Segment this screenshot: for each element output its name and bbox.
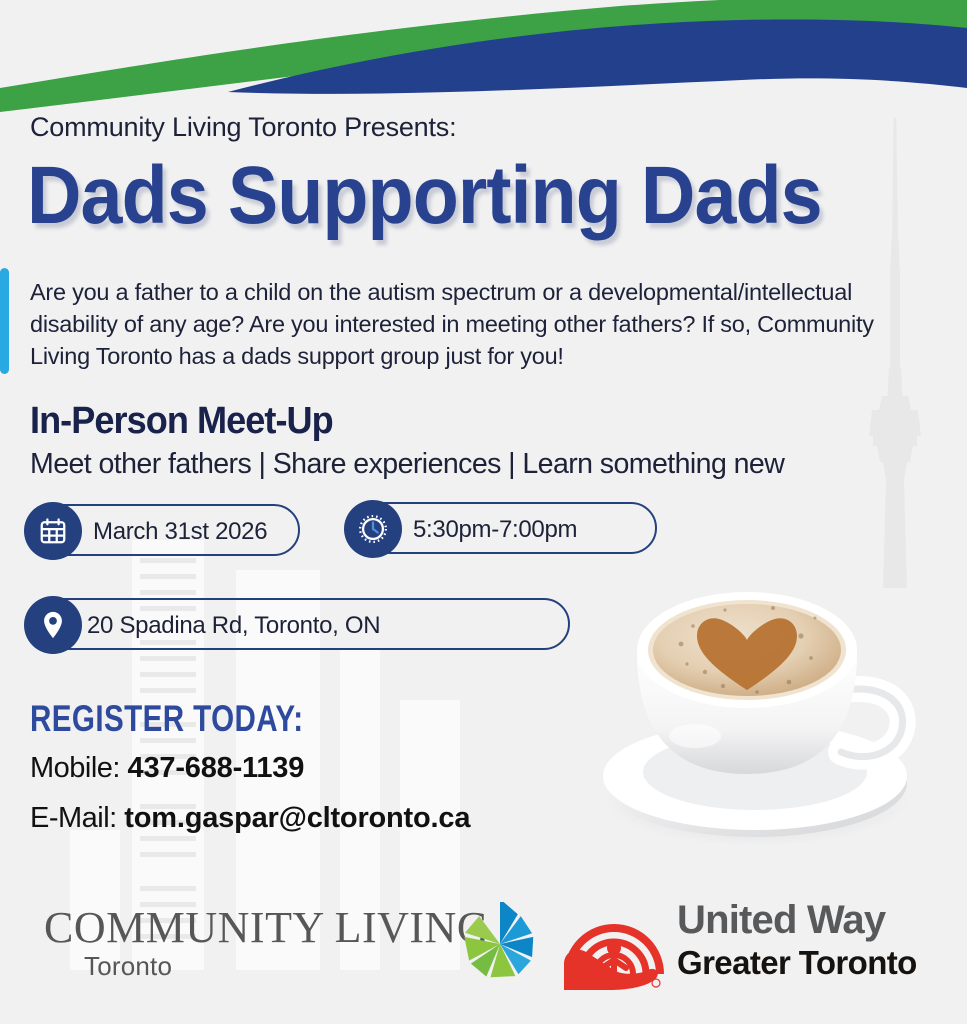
community-living-logo: COMMUNITY LIVING Toronto (40, 898, 510, 998)
event-time-label: 5:30pm-7:00pm (413, 504, 577, 556)
event-date-pill: March 31st 2026 (25, 504, 300, 556)
intro-paragraph: Are you a father to a child on the autis… (30, 276, 875, 372)
clock-icon (344, 500, 402, 558)
united-way-hand-icon (560, 890, 668, 990)
presents-line: Community Living Toronto Presents: (30, 112, 456, 143)
community-living-wordmark: COMMUNITY LIVING (44, 902, 489, 953)
event-tagline: Meet other fathers | Share experiences |… (30, 448, 784, 481)
blue-accent-bar (0, 268, 9, 374)
contact-email-value[interactable]: tom.gaspar@cltoronto.ca (124, 802, 470, 834)
contact-mobile: Mobile: 437-688-1139 (30, 752, 304, 785)
calendar-icon (24, 502, 82, 560)
event-date-label: March 31st 2026 (93, 506, 267, 558)
location-pin-icon (24, 596, 82, 654)
united-way-logo: United Way Greater Toronto (560, 888, 950, 994)
contact-email: E-Mail: tom.gaspar@cltoronto.ca (30, 802, 470, 835)
poster-content: Community Living Toronto Presents: Dads … (0, 0, 967, 1024)
event-time-pill: 5:30pm-7:00pm (345, 502, 657, 554)
united-way-line1: United Way (677, 898, 885, 943)
contact-mobile-label: Mobile: (30, 752, 128, 784)
event-location-pill: 20 Spadina Rd, Toronto, ON (25, 598, 570, 650)
event-subheading: In-Person Meet-Up (30, 400, 333, 443)
register-heading: REGISTER TODAY: (30, 698, 304, 740)
contact-mobile-value[interactable]: 437-688-1139 (128, 752, 305, 784)
united-way-line2: Greater Toronto (677, 944, 917, 982)
contact-email-label: E-Mail: (30, 802, 124, 834)
diamond-fan-icon (458, 902, 542, 986)
event-location-label: 20 Spadina Rd, Toronto, ON (87, 600, 380, 652)
poster-canvas: Community Living Toronto Presents: Dads … (0, 0, 967, 1024)
community-living-city: Toronto (84, 951, 172, 982)
page-title: Dads Supporting Dads (27, 152, 822, 240)
